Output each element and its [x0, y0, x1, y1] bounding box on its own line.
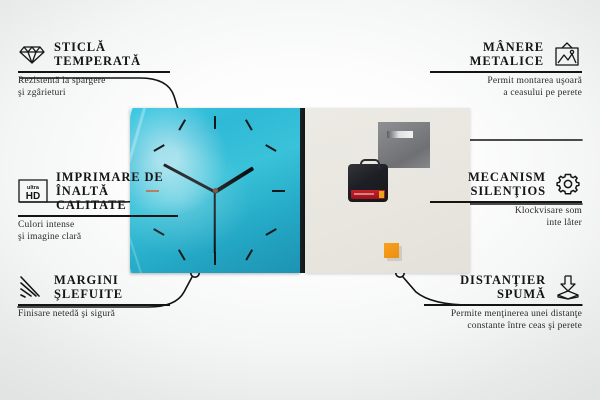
polished-edges-icon [18, 274, 46, 300]
hour-marker [245, 249, 252, 260]
infographic-canvas: STICLĂ TEMPERATĂ Rezistentă la spargere … [0, 0, 600, 400]
callout-manere-metalice: MÂNERE METALICE Permit montarea uşoară a… [430, 40, 582, 99]
callout-title: MARGINI ŞLEFUITE [54, 273, 123, 301]
callout-mecanism-silentios: MECANISM SILENŢIOS Klockvisare som inte … [430, 170, 582, 229]
hour-marker [265, 144, 276, 151]
callout-rule [430, 71, 582, 73]
hour-hand [214, 166, 254, 193]
hour-marker [153, 144, 164, 151]
callout-sticla-temperata: STICLĂ TEMPERATĂ Rezistentă la spargere … [18, 40, 170, 99]
aa-battery [351, 190, 385, 199]
hanger-slot [387, 131, 413, 138]
diamond-icon [18, 42, 46, 66]
callout-title: IMPRIMARE DE ÎNALTĂ CALITATE [56, 170, 178, 212]
callout-title: MÂNERE METALICE [470, 40, 544, 68]
callout-subtitle-line-2: şi imagine clară [18, 231, 178, 243]
callout-subtitle-line-2: inte låter [430, 217, 582, 229]
callout-subtitle-line-2: a ceasului pe perete [430, 87, 582, 99]
ultra-hd-icon: ultra HD [18, 178, 48, 204]
svg-text:HD: HD [26, 191, 40, 202]
callout-subtitle-line-1: Rezistentă la spargere [18, 75, 170, 87]
callout-header: MECANISM SILENŢIOS [430, 170, 582, 198]
mechanism-lug [360, 159, 380, 169]
callout-rule [18, 215, 178, 217]
callout-subtitle-line-2: şi zgârieturi [18, 87, 170, 99]
second-hand [214, 192, 216, 254]
callout-subtitle-line-1: Permit montarea uşoară [430, 75, 582, 87]
callout-title: DISTANŢIER SPUMĂ [460, 273, 546, 301]
metal-hanger-plate [378, 122, 430, 168]
hour-marker [272, 190, 285, 192]
callout-subtitle-line-2: constante între ceas şi perete [424, 320, 582, 332]
hour-marker [178, 249, 185, 260]
callout-imprimare-inalta-calitate: ultra HD IMPRIMARE DE ÎNALTĂ CALITATE Cu… [18, 170, 178, 243]
callout-margini-slefuite: MARGINI ŞLEFUITE Finisare netedă şi sigu… [18, 273, 170, 320]
hour-marker [265, 228, 276, 235]
callout-subtitle-line-1: Permite menţinerea unei distanţe [424, 308, 582, 320]
hour-marker [214, 116, 216, 129]
callout-subtitle-line-1: Klockvisare som [430, 205, 582, 217]
callout-rule [18, 304, 170, 306]
quartz-mechanism [348, 164, 388, 202]
hour-marker [245, 119, 252, 130]
callout-rule [424, 304, 582, 306]
hour-marker [214, 252, 216, 265]
callout-header: MARGINI ŞLEFUITE [18, 273, 170, 301]
callout-title: MECANISM SILENŢIOS [468, 170, 546, 198]
callout-rule [430, 201, 582, 203]
foam-spacer [384, 243, 399, 258]
callout-header: DISTANŢIER SPUMĂ [424, 273, 582, 301]
callout-distantier-spuma: DISTANŢIER SPUMĂ Permite menţinerea unei… [424, 273, 582, 332]
hour-marker [178, 119, 185, 130]
callout-header: STICLĂ TEMPERATĂ [18, 40, 170, 68]
callout-title: STICLĂ TEMPERATĂ [54, 40, 141, 68]
battery-positive-tip [379, 191, 384, 198]
callout-subtitle-line-1: Finisare netedă şi sigură [18, 308, 170, 320]
callout-subtitle-line-1: Culori intense [18, 219, 178, 231]
product-photo [130, 108, 470, 273]
clock-hub [213, 188, 218, 193]
callout-header: ultra HD IMPRIMARE DE ÎNALTĂ CALITATE [18, 170, 178, 212]
picture-hanger-icon [552, 41, 582, 67]
callout-rule [18, 71, 170, 73]
gear-icon [554, 171, 582, 197]
battery-label-stripe [354, 193, 374, 195]
foam-spacer-icon [554, 274, 582, 300]
callout-header: MÂNERE METALICE [430, 40, 582, 68]
